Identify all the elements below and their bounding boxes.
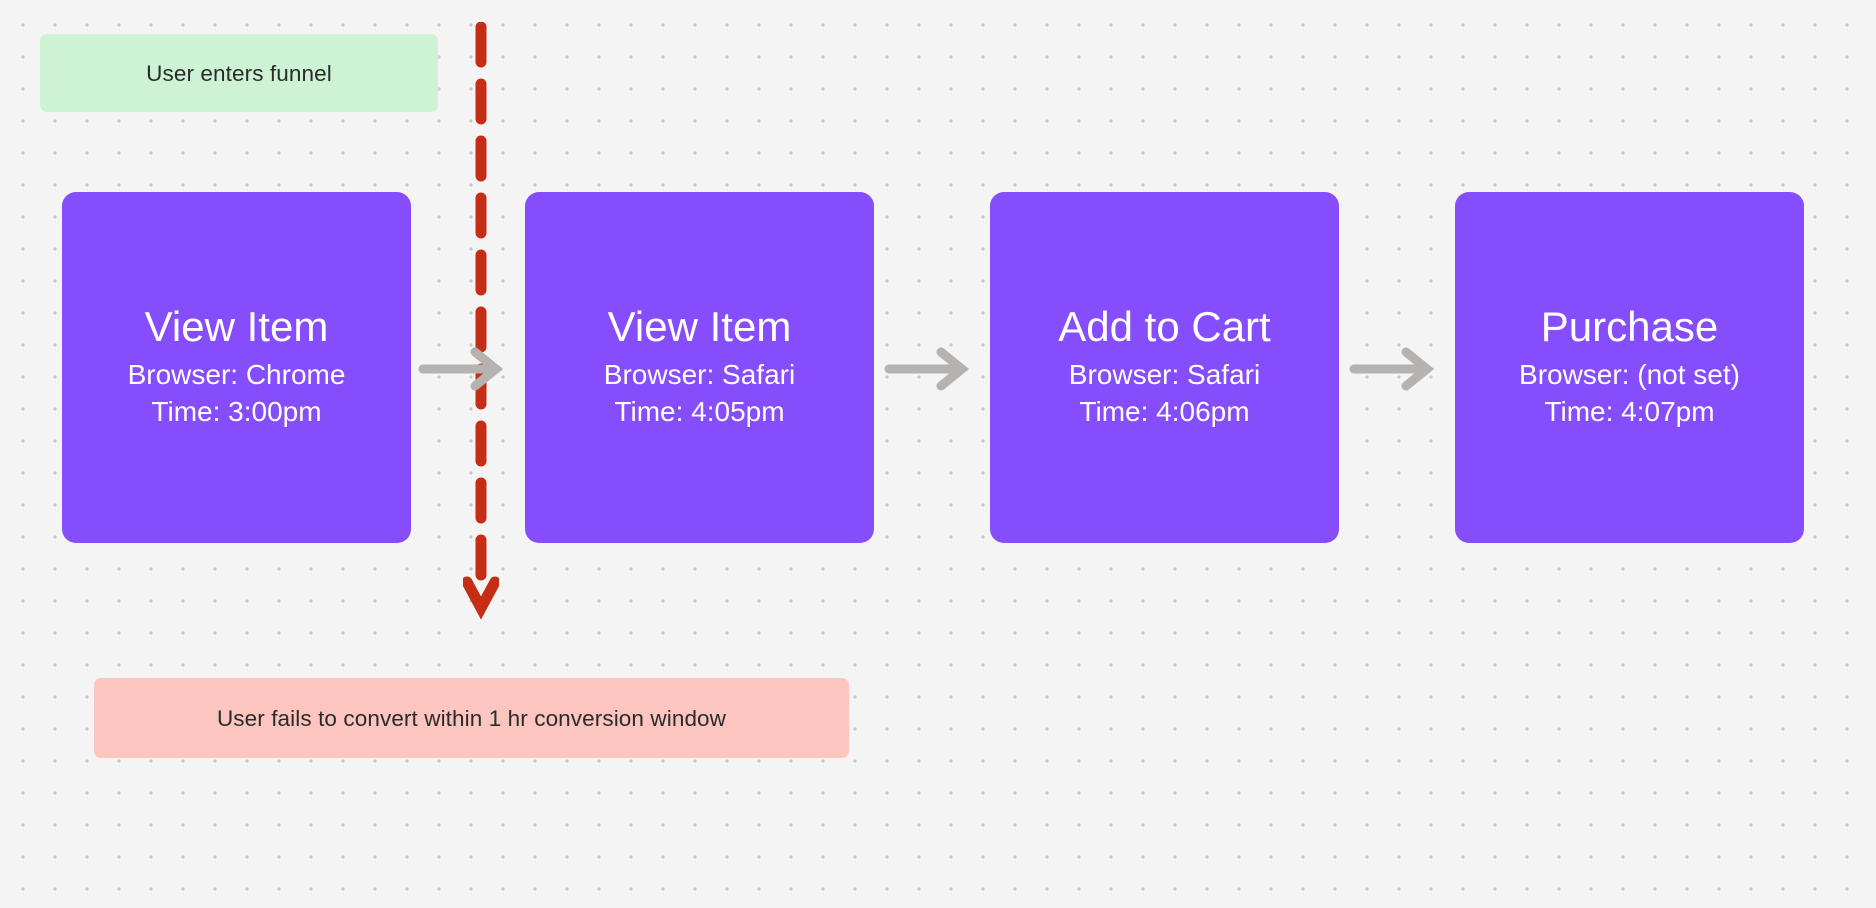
funnel-node-time: Time: 4:05pm: [614, 394, 784, 431]
funnel-node-title: View Item: [608, 304, 792, 349]
annotation-funnel-entry-label: User enters funnel: [146, 60, 332, 87]
funnel-node-browser: Browser: Chrome: [128, 357, 346, 394]
funnel-node-browser: Browser: (not set): [1519, 357, 1740, 394]
flow-arrow-1-icon: [418, 347, 505, 391]
funnel-node-browser: Browser: Safari: [604, 357, 795, 394]
annotation-funnel-entry[interactable]: User enters funnel: [40, 34, 438, 112]
funnel-node-time: Time: 4:07pm: [1544, 394, 1714, 431]
diagram-canvas: User enters funnel View Item Browser: Ch…: [0, 0, 1876, 908]
funnel-node-title: Purchase: [1541, 304, 1718, 349]
annotation-conversion-failure-label: User fails to convert within 1 hr conver…: [217, 705, 726, 732]
flow-arrow-3-icon: [1349, 347, 1436, 391]
funnel-node-title: View Item: [145, 304, 329, 349]
funnel-node-add-to-cart[interactable]: Add to Cart Browser: Safari Time: 4:06pm: [990, 192, 1339, 543]
conversion-window-dashed-line: [463, 22, 499, 662]
funnel-node-time: Time: 3:00pm: [151, 394, 321, 431]
funnel-node-purchase[interactable]: Purchase Browser: (not set) Time: 4:07pm: [1455, 192, 1804, 543]
funnel-node-view-item-1[interactable]: View Item Browser: Chrome Time: 3:00pm: [62, 192, 411, 543]
funnel-node-title: Add to Cart: [1058, 304, 1270, 349]
funnel-node-view-item-2[interactable]: View Item Browser: Safari Time: 4:05pm: [525, 192, 874, 543]
funnel-node-browser: Browser: Safari: [1069, 357, 1260, 394]
funnel-node-time: Time: 4:06pm: [1079, 394, 1249, 431]
annotation-conversion-failure[interactable]: User fails to convert within 1 hr conver…: [94, 678, 849, 758]
flow-arrow-2-icon: [884, 347, 971, 391]
conversion-window-arrow-icon: [463, 22, 499, 662]
